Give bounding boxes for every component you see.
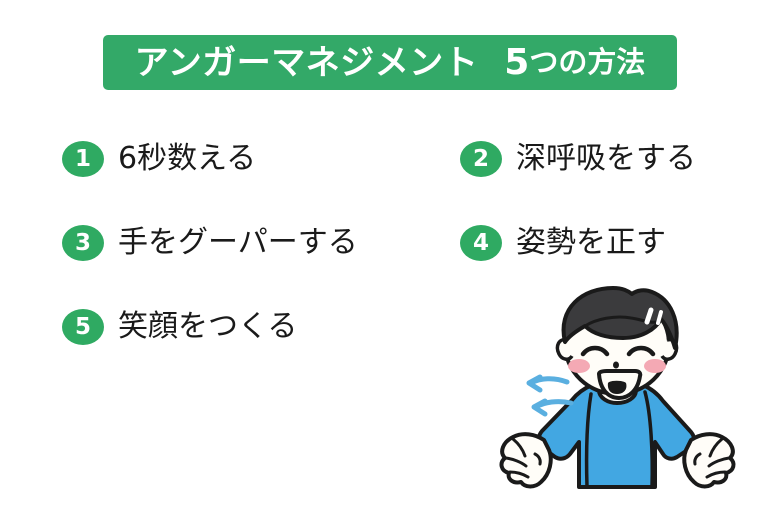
list-item-3-label: 手をグーパーする xyxy=(118,228,358,258)
nose-icon xyxy=(613,362,619,369)
list-item-1-label: 6秒数える xyxy=(118,144,256,174)
list-item-2-label: 深呼吸をする xyxy=(516,144,696,174)
badge-number-2: 2 xyxy=(460,141,502,177)
list-item-4-label: 姿勢を正す xyxy=(516,228,666,258)
badge-number-4: 4 xyxy=(460,225,502,261)
badge-number-3: 3 xyxy=(62,225,104,261)
list-item-4: 4 姿勢を正す xyxy=(460,220,666,266)
list-item-2: 2 深呼吸をする xyxy=(460,136,696,182)
list-item-1: 1 6秒数える xyxy=(62,136,256,182)
list-item-5-label: 笑顔をつくる xyxy=(118,312,297,342)
right-hand-icon xyxy=(684,434,733,486)
title-banner: アンガーマネジメント 5 つの方法 xyxy=(103,35,677,90)
list-item-3: 3 手をグーパーする xyxy=(62,220,358,266)
badge-number-1: 1 xyxy=(62,141,104,177)
badge-number-5: 5 xyxy=(62,309,104,345)
title-suffix-text: つの方法 xyxy=(529,48,645,77)
infographic-poster: アンガーマネジメント 5 つの方法 1 6秒数える 2 深呼吸をする 3 手をグ… xyxy=(0,0,780,520)
list-item-5: 5 笑顔をつくる xyxy=(62,304,297,350)
title-main-text: アンガーマネジメント xyxy=(135,46,479,80)
person-exhaling-illustration xyxy=(495,282,750,510)
left-hand-icon xyxy=(502,434,551,486)
title-count-number: 5 xyxy=(504,45,529,81)
